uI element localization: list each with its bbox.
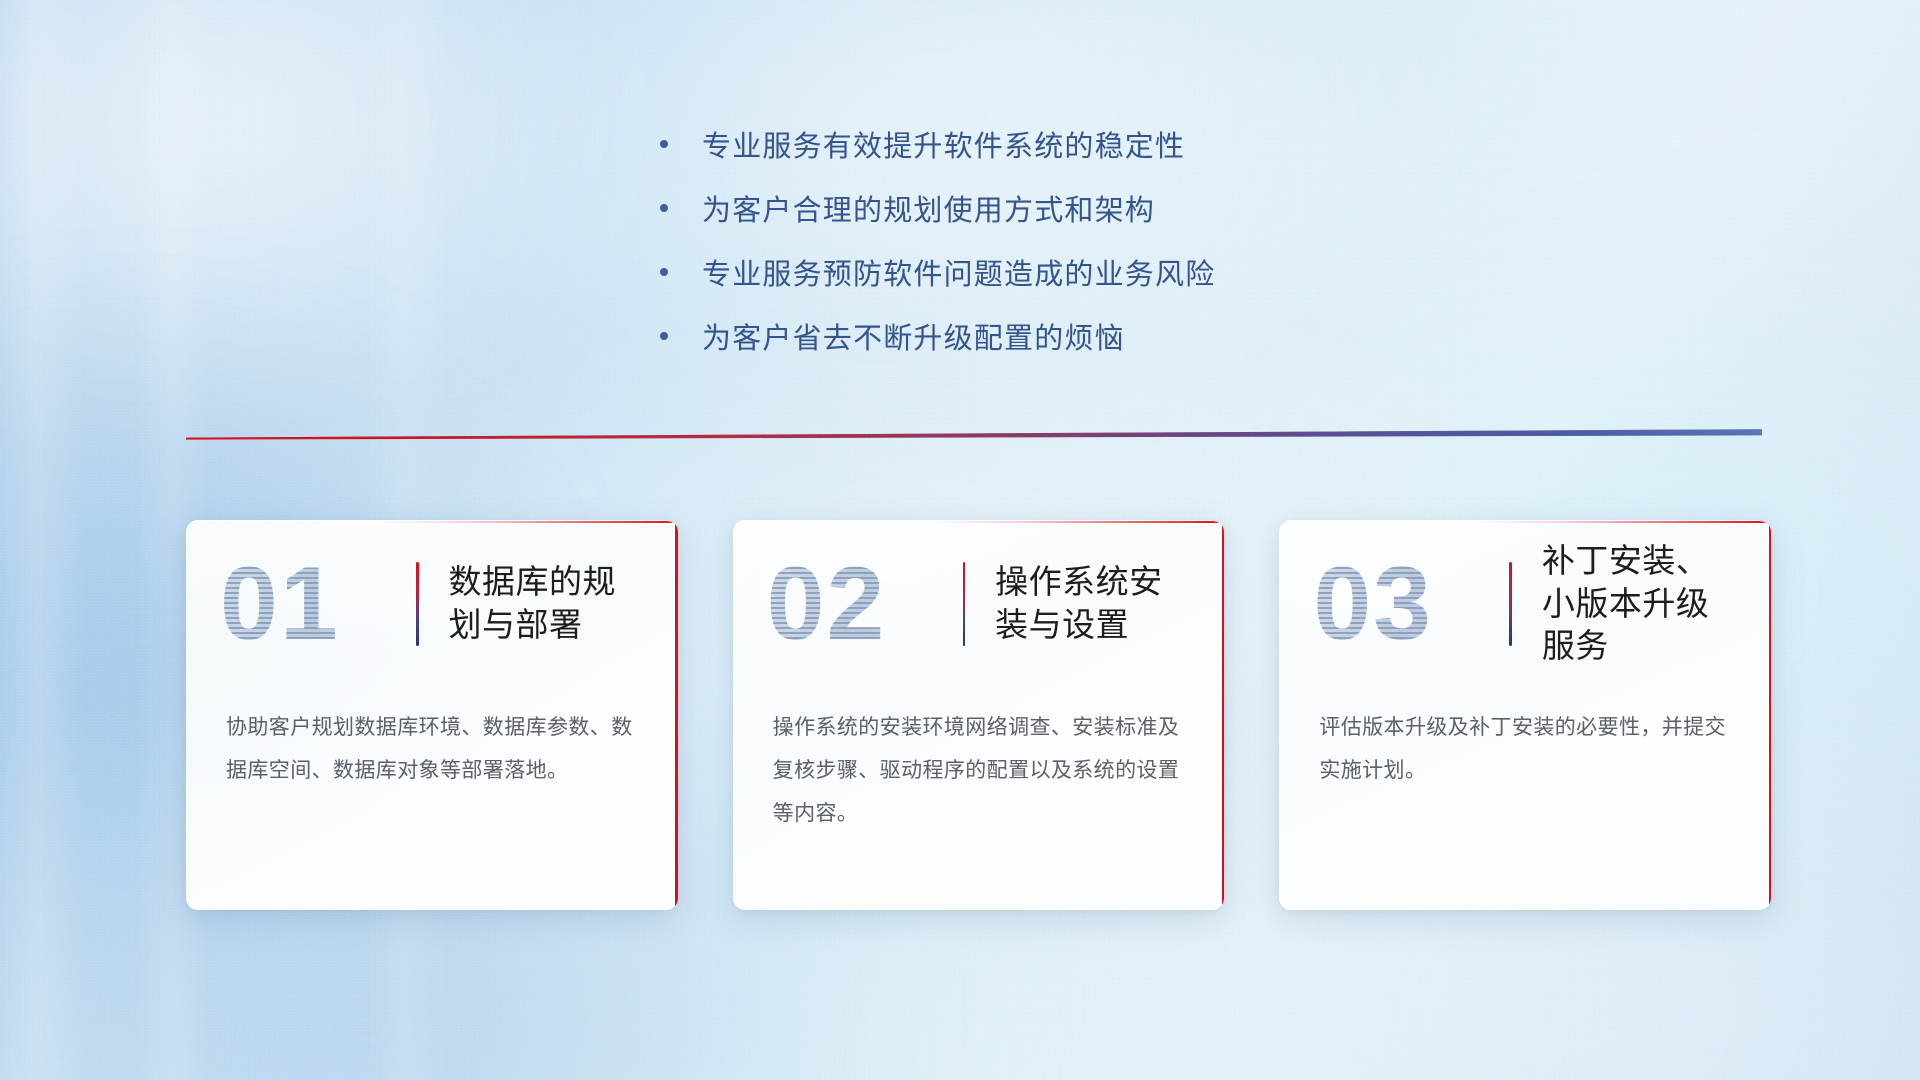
section-divider bbox=[186, 428, 1762, 444]
service-card-01[interactable]: 01 数据库的规划与部署 协助客户规划数据库环境、数据库参数、数据库空间、数据库… bbox=[186, 520, 678, 910]
service-card-02[interactable]: 02 操作系统安装与设置 操作系统的安装环境网络调查、安装标准及复核步骤、驱动程… bbox=[733, 520, 1225, 910]
bullet-dot-icon bbox=[660, 204, 668, 212]
bullet-item-label: 专业服务预防软件问题造成的业务风险 bbox=[702, 251, 1215, 293]
service-cards-row: 01 数据库的规划与部署 协助客户规划数据库环境、数据库参数、数据库空间、数据库… bbox=[186, 520, 1771, 910]
list-item: 为客户省去不断升级配置的烦恼 bbox=[660, 304, 1420, 368]
list-item: 为客户合理的规划使用方式和架构 bbox=[660, 176, 1420, 240]
bullet-item-label: 专业服务有效提升软件系统的稳定性 bbox=[702, 123, 1185, 165]
bullet-dot-icon bbox=[660, 268, 668, 276]
card-ghost-number: 03 bbox=[1313, 552, 1509, 656]
card-description: 评估版本升级及补丁安装的必要性，并提交实施计划。 bbox=[1279, 650, 1771, 792]
card-accent-bar bbox=[1509, 562, 1512, 646]
list-item: 专业服务有效提升软件系统的稳定性 bbox=[660, 112, 1420, 176]
card-accent-bar bbox=[963, 562, 966, 646]
bullet-item-label: 为客户省去不断升级配置的烦恼 bbox=[702, 315, 1125, 357]
bullet-item-label: 为客户合理的规划使用方式和架构 bbox=[702, 187, 1155, 229]
card-title: 数据库的规划与部署 bbox=[449, 561, 644, 647]
card-description: 操作系统的安装环境网络调查、安装标准及复核步骤、驱动程序的配置以及系统的设置等内… bbox=[733, 650, 1225, 835]
card-description: 协助客户规划数据库环境、数据库参数、数据库空间、数据库对象等部署落地。 bbox=[186, 650, 678, 792]
card-title: 操作系统安装与设置 bbox=[995, 561, 1190, 647]
card-header: 01 数据库的规划与部署 bbox=[186, 520, 678, 650]
bullet-dot-icon bbox=[660, 332, 668, 340]
divider-shape-icon bbox=[186, 428, 1762, 444]
card-ghost-number: 02 bbox=[767, 552, 963, 656]
list-item: 专业服务预防软件问题造成的业务风险 bbox=[660, 240, 1420, 304]
service-card-03[interactable]: 03 补丁安装、小版本升级服务 评估版本升级及补丁安装的必要性，并提交实施计划。 bbox=[1279, 520, 1771, 910]
card-ghost-number: 01 bbox=[220, 552, 416, 656]
benefits-bullet-list: 专业服务有效提升软件系统的稳定性 为客户合理的规划使用方式和架构 专业服务预防软… bbox=[660, 112, 1420, 368]
card-header: 03 补丁安装、小版本升级服务 bbox=[1279, 520, 1771, 650]
card-header: 02 操作系统安装与设置 bbox=[733, 520, 1225, 650]
bullet-dot-icon bbox=[660, 140, 668, 148]
card-accent-bar bbox=[416, 562, 419, 646]
